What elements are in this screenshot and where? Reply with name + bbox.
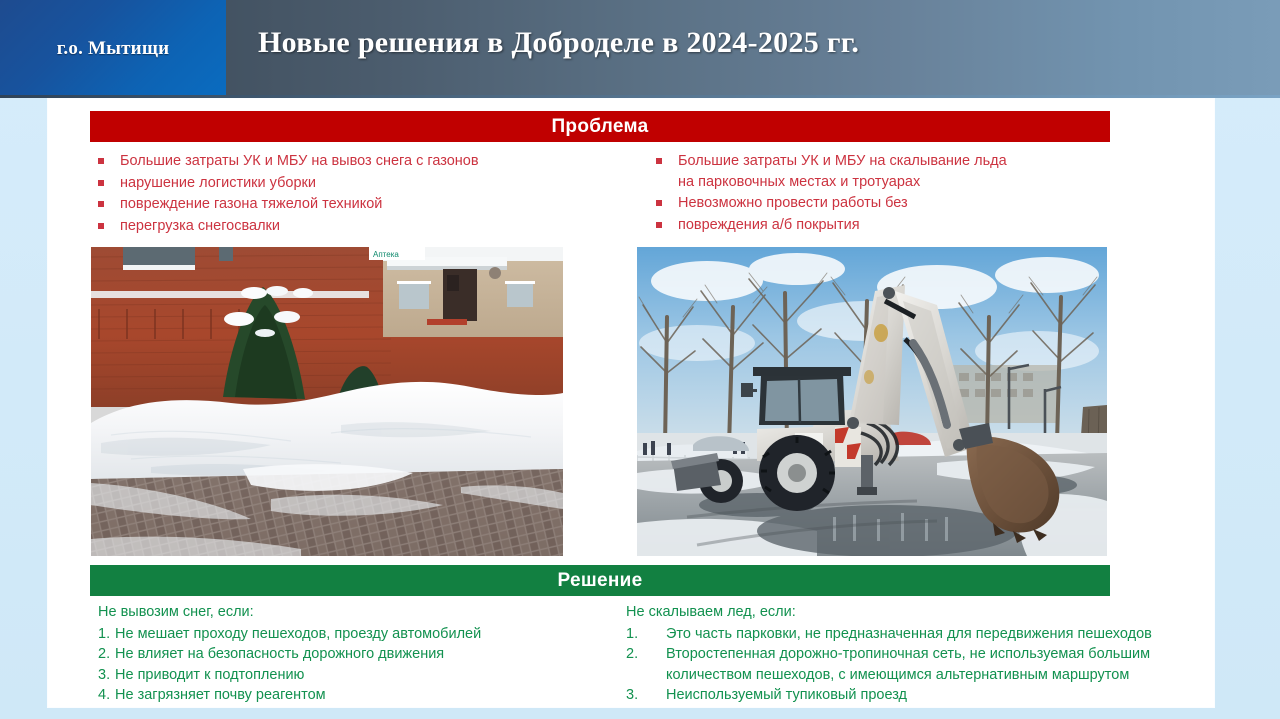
- problem-list-right: Большие затраты УК и МБУ на скалывание л…: [656, 151, 1126, 236]
- solution-list-left: Не вывозим снег, если: 1. Не мешает прох…: [98, 602, 618, 706]
- list-item: Большие затраты УК и МБУ на скалывание л…: [656, 151, 1126, 192]
- slide-header: г.о. Мытищи Новые решения в Доброделе в …: [0, 0, 1280, 97]
- list-item-text: Не приводит к подтоплению: [115, 665, 618, 686]
- list-item-text: Неиспользуемый тупиковый проезд: [666, 685, 1186, 706]
- list-item: повреждения а/б покрытия: [656, 215, 1126, 236]
- list-item-text: перегрузка снегосвалки: [120, 216, 578, 237]
- list-item-text: Большие затраты УК и МБУ на скалывание л…: [678, 151, 1126, 192]
- list-item-text: Большие затраты УК и МБУ на вывоз снега …: [120, 151, 578, 172]
- list-item-text: Невозможно провести работы без: [678, 193, 1126, 214]
- page-title: Новые решения в Доброделе в 2024-2025 гг…: [258, 26, 859, 60]
- problem-section-bar: Проблема: [90, 111, 1110, 142]
- list-item-number: 1.: [98, 624, 115, 645]
- list-item-text: повреждения а/б покрытия: [678, 215, 1126, 236]
- list-item: 3. Не приводит к подтоплению: [98, 665, 618, 686]
- solution-left-heading: Не вывозим снег, если:: [98, 602, 618, 623]
- svg-text:Аптека: Аптека: [373, 250, 399, 259]
- list-item: нарушение логистики уборки: [98, 173, 578, 194]
- list-item-text: Не влияет на безопасность дорожного движ…: [115, 644, 618, 665]
- bullet-square-icon: [98, 216, 120, 229]
- list-item-text: нарушение логистики уборки: [120, 173, 578, 194]
- brand-label: г.о. Мытищи: [0, 38, 226, 60]
- slide-canvas: Проблема Большие затраты УК и МБУ на выв…: [48, 99, 1214, 707]
- list-item-number: 1.: [626, 624, 666, 645]
- list-item: Невозможно провести работы без: [656, 193, 1126, 214]
- bullet-square-icon: [98, 151, 120, 164]
- list-item: перегрузка снегосвалки: [98, 216, 578, 237]
- bullet-square-icon: [98, 194, 120, 207]
- solution-right-heading: Не скалываем лед, если:: [626, 602, 1186, 623]
- list-item-text: Это часть парковки, не предназначенная д…: [666, 624, 1186, 645]
- list-item: 1. Это часть парковки, не предназначенна…: [626, 624, 1186, 645]
- list-item-number: 2.: [98, 644, 115, 665]
- backhoe-breaking-ice-photo: [637, 247, 1107, 556]
- list-item: повреждение газона тяжелой техникой: [98, 194, 578, 215]
- list-item: 2. Второстепенная дорожно-тропиночная се…: [626, 644, 1186, 685]
- solution-list-right: Не скалываем лед, если: 1. Это часть пар…: [626, 602, 1186, 706]
- list-item-text: Не загрязняет почву реагентом: [115, 685, 618, 706]
- slide-root: г.о. Мытищи Новые решения в Доброделе в …: [0, 0, 1280, 719]
- list-item-text: Не мешает проходу пешеходов, проезду авт…: [115, 624, 618, 645]
- list-item: Большие затраты УК и МБУ на вывоз снега …: [98, 151, 578, 172]
- list-item: 2. Не влияет на безопасность дорожного д…: [98, 644, 618, 665]
- header-underline: [0, 95, 1280, 98]
- solution-section-bar: Решение: [90, 565, 1110, 596]
- list-item: 4. Не загрязняет почву реагентом: [98, 685, 618, 706]
- bullet-square-icon: [656, 151, 678, 164]
- snow-pile-on-lawn-photo: Аптека: [91, 247, 563, 556]
- list-item-number: 3.: [98, 665, 115, 686]
- problem-list-left: Большие затраты УК и МБУ на вывоз снега …: [98, 151, 578, 237]
- list-item-number: 2.: [626, 644, 666, 665]
- list-item: 3. Неиспользуемый тупиковый проезд: [626, 685, 1186, 706]
- list-item-number: 3.: [626, 685, 666, 706]
- list-item-text: Второстепенная дорожно-тропиночная сеть,…: [666, 644, 1186, 685]
- list-item: 1. Не мешает проходу пешеходов, проезду …: [98, 624, 618, 645]
- list-item-number: 4.: [98, 685, 115, 706]
- list-item-text: повреждение газона тяжелой техникой: [120, 194, 578, 215]
- bullet-square-icon: [656, 215, 678, 228]
- bullet-square-icon: [98, 173, 120, 186]
- bullet-square-icon: [656, 193, 678, 206]
